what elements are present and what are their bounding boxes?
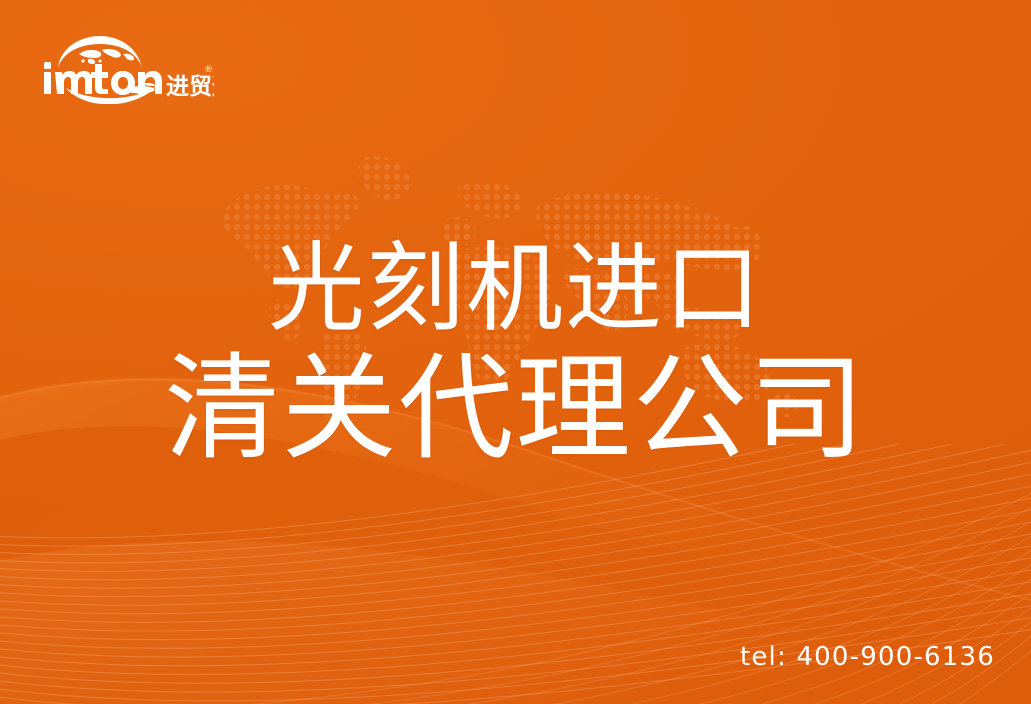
- brand-logo[interactable]: 进贸通 ®: [38, 28, 214, 104]
- headline-line-2: 清关代理公司: [0, 342, 1031, 478]
- headline: 光刻机进口 清关代理公司: [0, 232, 1031, 478]
- logo-chinese-name: 进贸通: [166, 74, 214, 100]
- promo-banner: 进贸通 ® 光刻机进口 清关代理公司 tel: 400-900-6136: [0, 0, 1031, 704]
- telephone-number[interactable]: tel: 400-900-6136: [740, 642, 995, 672]
- globe-icon: [58, 36, 142, 68]
- headline-line-1: 光刻机进口: [0, 232, 1031, 346]
- registered-trademark-icon: ®: [204, 65, 213, 75]
- wordmark-imton: [44, 62, 162, 95]
